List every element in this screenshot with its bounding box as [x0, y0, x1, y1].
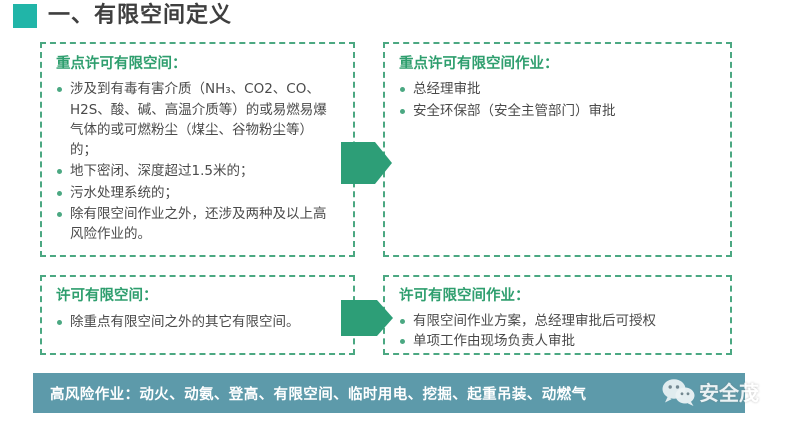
bullet-list: 总经理审批 安全环保部（安全主管部门）审批: [399, 79, 716, 121]
card-body: 许可有限空间： 除重点有限空间之外的其它有限空间。: [42, 277, 353, 333]
bullet-list: 除重点有限空间之外的其它有限空间。: [56, 312, 339, 332]
list-item: 总经理审批: [399, 79, 716, 99]
list-item: 地下密闭、深度超过1.5米的；: [56, 161, 339, 181]
arrow-right-icon: [341, 142, 375, 184]
card-title: 许可有限空间：: [56, 288, 339, 305]
card-key-limited-space-work: 重点许可有限空间作业： 总经理审批 安全环保部（安全主管部门）审批: [383, 42, 732, 257]
card-permitted-limited-space-work: 许可有限空间作业： 有限空间作业方案，总经理审批后可授权 单项工作由现场负责人审…: [383, 275, 732, 355]
card-title: 许可有限空间作业：: [399, 288, 716, 305]
slide-canvas: 一、有限空间定义 重点许可有限空间： 涉及到有毒有害介质（NH₃、CO2、CO、…: [0, 0, 786, 422]
card-body: 重点许可有限空间： 涉及到有毒有害介质（NH₃、CO2、CO、H2S、酸、碱、高…: [42, 44, 353, 244]
list-item: 涉及到有毒有害介质（NH₃、CO2、CO、H2S、酸、碱、高温介质等）的或易燃易…: [56, 79, 339, 160]
card-title: 重点许可有限空间：: [56, 56, 339, 73]
list-item: 除重点有限空间之外的其它有限空间。: [56, 312, 339, 332]
square-marker-icon: [13, 4, 37, 28]
high-risk-work-banner: 高风险作业：动火、动氨、登高、有限空间、临时用电、挖掘、起重吊装、动燃气: [33, 373, 745, 413]
bullet-list: 有限空间作业方案，总经理审批后可授权 单项工作由现场负责人审批: [399, 311, 716, 351]
page-title-text: 一、有限空间定义: [48, 5, 232, 27]
list-item: 除有限空间作业之外，还涉及两种及以上高风险作业的。: [56, 204, 339, 245]
list-item: 污水处理系统的；: [56, 183, 339, 203]
bullet-list: 涉及到有毒有害介质（NH₃、CO2、CO、H2S、酸、碱、高温介质等）的或易燃易…: [56, 79, 339, 244]
list-item: 安全环保部（安全主管部门）审批: [399, 101, 716, 121]
arrow-right-icon: [341, 300, 377, 336]
card-permitted-limited-space: 许可有限空间： 除重点有限空间之外的其它有限空间。: [40, 275, 355, 355]
card-title: 重点许可有限空间作业：: [399, 56, 716, 73]
card-body: 重点许可有限空间作业： 总经理审批 安全环保部（安全主管部门）审批: [385, 44, 730, 121]
list-item: 单项工作由现场负责人审批: [399, 331, 716, 351]
list-item: 有限空间作业方案，总经理审批后可授权: [399, 311, 716, 331]
card-body: 许可有限空间作业： 有限空间作业方案，总经理审批后可授权 单项工作由现场负责人审…: [385, 277, 730, 351]
page-title: 一、有限空间定义: [13, 4, 232, 28]
banner-text: 高风险作业：动火、动氨、登高、有限空间、临时用电、挖掘、起重吊装、动燃气: [33, 383, 586, 404]
card-key-limited-space: 重点许可有限空间： 涉及到有毒有害介质（NH₃、CO2、CO、H2S、酸、碱、高…: [40, 42, 355, 257]
